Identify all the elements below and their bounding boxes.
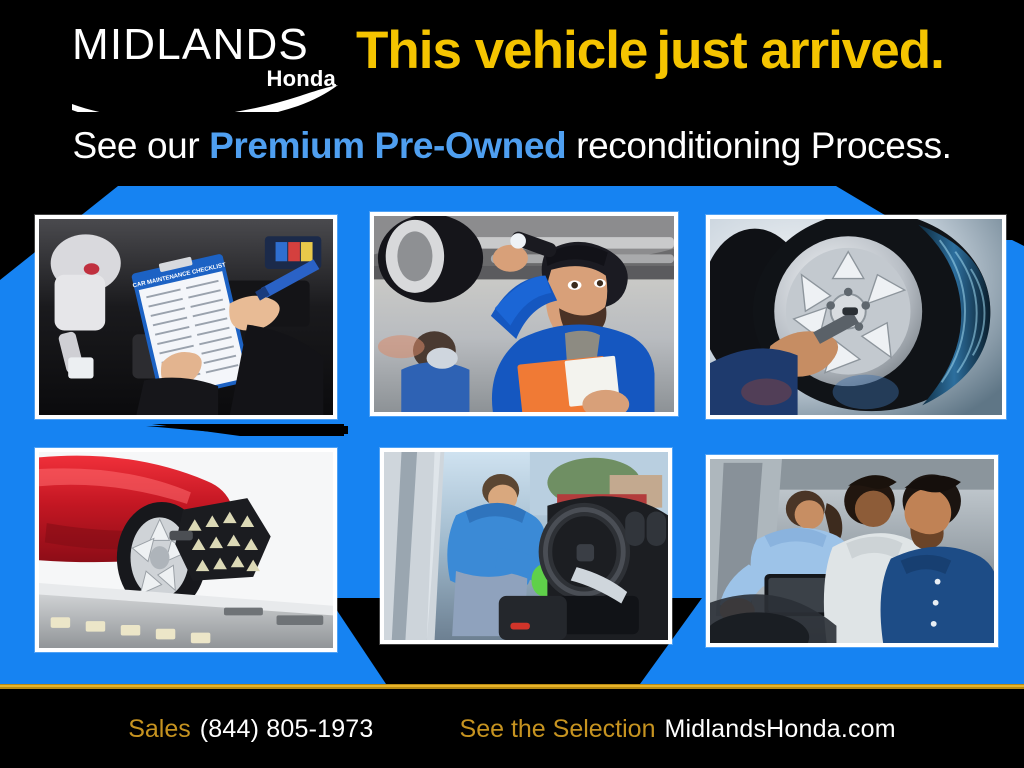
selection-label: See the Selection: [460, 715, 656, 744]
subheading-highlight: Premium Pre-Owned: [209, 125, 566, 166]
sales-contact[interactable]: Sales (844) 805-1973: [128, 715, 373, 744]
photo-interior-detailing: [380, 448, 672, 644]
sales-phone[interactable]: (844) 805-1973: [200, 715, 374, 744]
photo-undercarriage-inspection: [370, 212, 678, 416]
footer: Sales (844) 805-1973 See the Selection M…: [0, 689, 1024, 768]
header: MIDLANDS Honda This vehiclejust arrived.…: [0, 0, 1024, 186]
website-url[interactable]: MidlandsHonda.com: [665, 715, 896, 744]
headline-part-2: just arrived.: [656, 21, 943, 80]
subheading: See our Premium Pre-Owned reconditioning…: [0, 124, 1024, 168]
swoosh-underline-icon: [70, 82, 342, 112]
ad-banner: MIDLANDS Honda This vehiclejust arrived.…: [0, 0, 1024, 768]
selection-link[interactable]: See the Selection MidlandsHonda.com: [460, 715, 896, 744]
page-title: This vehiclejust arrived.: [356, 20, 944, 82]
headline-part-1: This vehicle: [356, 21, 647, 80]
photo-tire-wheel-check: [706, 215, 1006, 419]
brand-name: MIDLANDS: [72, 22, 342, 68]
photo-maintenance-checklist: CAR MAINTENANCE CHECKLIST: [35, 215, 337, 419]
photo-customer-delivery: [706, 455, 998, 647]
photo-wheel-alignment: [35, 448, 337, 652]
sales-label: Sales: [128, 715, 191, 744]
subheading-pre: See our: [72, 125, 209, 166]
subheading-post: reconditioning Process.: [566, 125, 951, 166]
brand-logo[interactable]: MIDLANDS Honda: [72, 22, 342, 100]
